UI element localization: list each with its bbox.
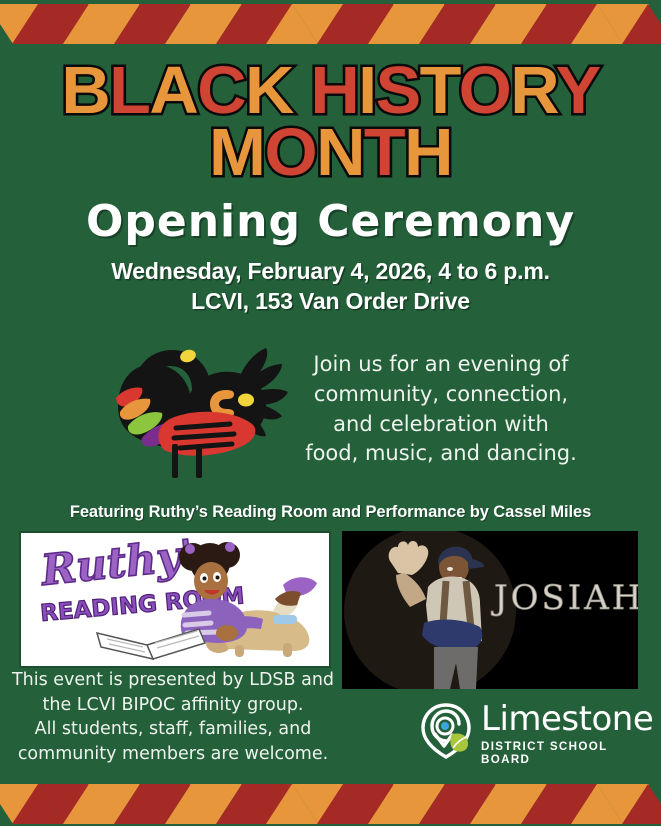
title-block: BLACK HISTORY MONTH [0,60,661,183]
title-letter: O [264,115,316,190]
presented-by-text: This event is presented by LDSB and the … [8,668,338,766]
subtitle-opening-ceremony: Opening Ceremony [0,196,661,247]
event-location: LCVI, 153 Van Order Drive [0,286,661,316]
title-letter: L [109,53,149,128]
logo-name: Limestone [481,702,631,738]
invite-text: Join us for an evening of community, con… [286,350,596,469]
featuring-line: Featuring Ruthy’s Reading Room and Perfo… [0,503,661,522]
invite-line: food, music, and dancing. [286,439,596,469]
blurb-line: community members are welcome. [8,742,338,767]
limestone-pin-leaf-icon [418,702,474,760]
sankofa-bird-illustration [100,328,290,478]
title-line-black-history: BLACK HISTORY [0,60,661,122]
blurb-line: All students, staff, families, and [8,717,338,742]
svg-text:JOSIAH: JOSIAH [491,578,638,618]
title-letter: R [510,53,555,128]
title-letter: A [149,53,197,128]
border-triangle [622,784,661,824]
invite-line: and celebration with [286,410,596,440]
limestone-logo: Limestone DISTRICT SCHOOL BOARD [418,700,633,762]
poster-canvas: BLACK HISTORY MONTH Opening Ceremony Wed… [0,0,661,826]
top-triangle-border [0,0,661,46]
title-letter: B [61,53,109,128]
invite-line: Join us for an evening of [286,350,596,380]
title-letter: O [459,53,511,128]
title-letter: Y [556,53,600,128]
event-details: Wednesday, February 4, 2026, 4 to 6 p.m.… [0,256,661,317]
invite-line: community, connection, [286,380,596,410]
bottom-triangle-border [0,780,661,826]
blurb-line: This event is presented by LDSB and [8,668,338,693]
title-letter: T [364,115,404,190]
josiah-performance-image: JOSIAH [342,531,638,689]
title-letter: M [209,115,264,190]
ruthys-reading-room-image: Ruthy's READING ROOM [19,531,331,668]
border-triangle [622,4,661,44]
logo-subtitle: DISTRICT SCHOOL BOARD [481,740,631,766]
event-date: Wednesday, February 4, 2026, 4 to 6 p.m. [0,256,661,286]
blurb-line: the LCVI BIPOC affinity group. [8,693,338,718]
title-line-month: MONTH [0,122,661,184]
title-letter: H [404,115,452,190]
limestone-logo-text: Limestone DISTRICT SCHOOL BOARD [481,702,631,766]
title-letter: N [316,115,364,190]
